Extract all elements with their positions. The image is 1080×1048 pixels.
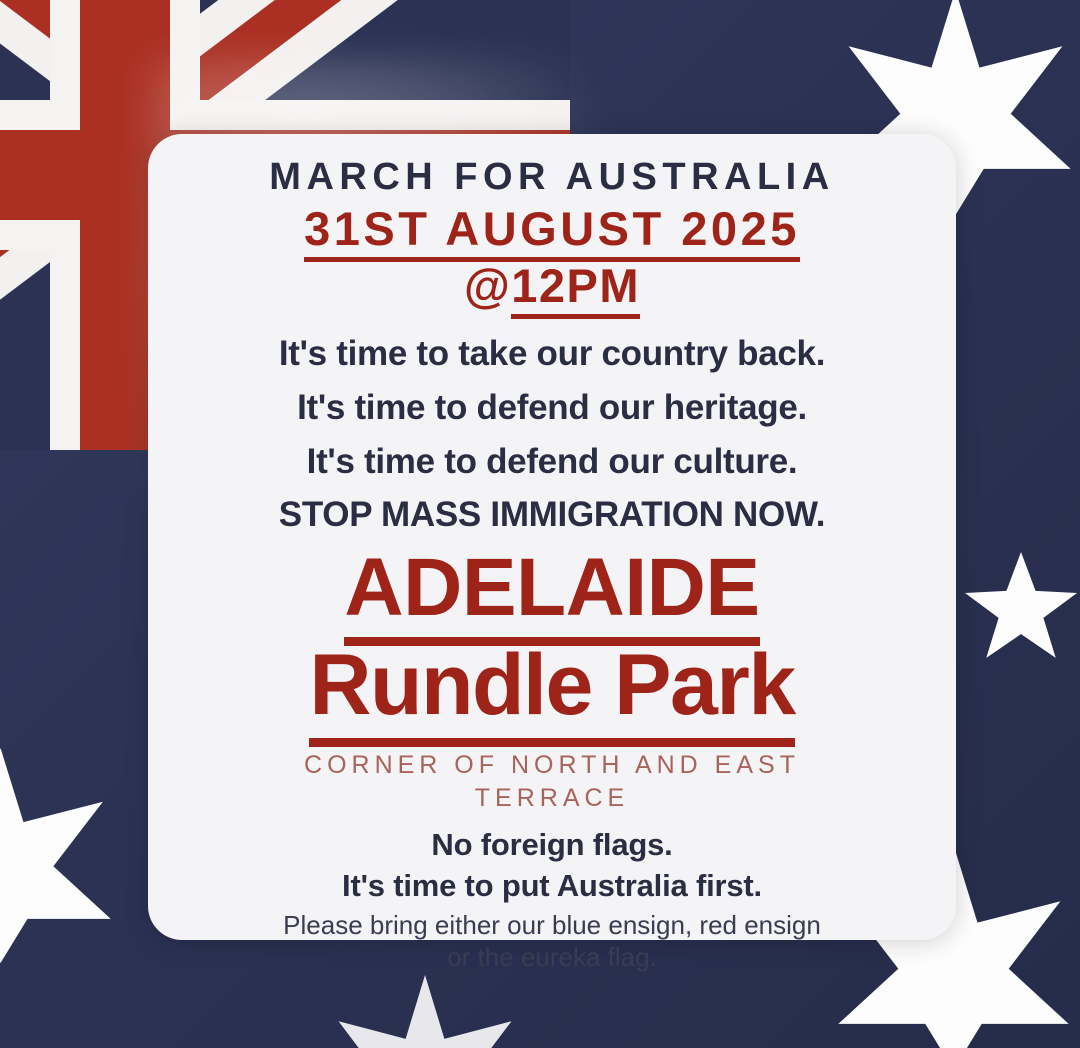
event-venue-text: Rundle Park	[309, 637, 794, 747]
slogan-item: STOP MASS IMMIGRATION NOW.	[148, 490, 956, 540]
organisation-title: MARCH FOR AUSTRALIA	[148, 158, 956, 198]
event-address: CORNER OF NORTH AND EAST TERRACE	[148, 749, 956, 815]
address-line-1: CORNER OF NORTH AND EAST	[304, 751, 800, 779]
slogan-item: It's time to take our country back.	[148, 329, 956, 379]
flag-note-line-2: or the eureka flag.	[447, 942, 657, 972]
closing-line-1: No foreign flags.	[148, 825, 956, 865]
event-date-text: 31ST AUGUST 2025	[304, 202, 800, 262]
at-symbol: @	[464, 259, 511, 312]
address-line-2: TERRACE	[475, 784, 629, 812]
slogan-item: It's time to defend our culture.	[148, 437, 956, 487]
closing-block: No foreign flags. It's time to put Austr…	[148, 825, 956, 973]
event-city-text: ADELAIDE	[344, 542, 759, 646]
poster-content-card: MARCH FOR AUSTRALIA 31ST AUGUST 2025 @12…	[148, 134, 956, 940]
event-venue: Rundle Park	[148, 642, 956, 730]
slogan-list: It's time to take our country back. It's…	[148, 329, 956, 540]
event-date: 31ST AUGUST 2025	[148, 205, 956, 254]
slogan-item: It's time to defend our heritage.	[148, 383, 956, 433]
event-time: @12PM	[148, 262, 956, 311]
flag-note-line-1: Please bring either our blue ensign, red…	[283, 910, 821, 940]
closing-line-2: It's time to put Australia first.	[148, 866, 956, 906]
flag-note: Please bring either our blue ensign, red…	[148, 910, 956, 973]
event-time-text: 12PM	[511, 259, 640, 319]
poster: MARCH FOR AUSTRALIA 31ST AUGUST 2025 @12…	[0, 0, 1080, 1048]
event-city: ADELAIDE	[148, 546, 956, 630]
